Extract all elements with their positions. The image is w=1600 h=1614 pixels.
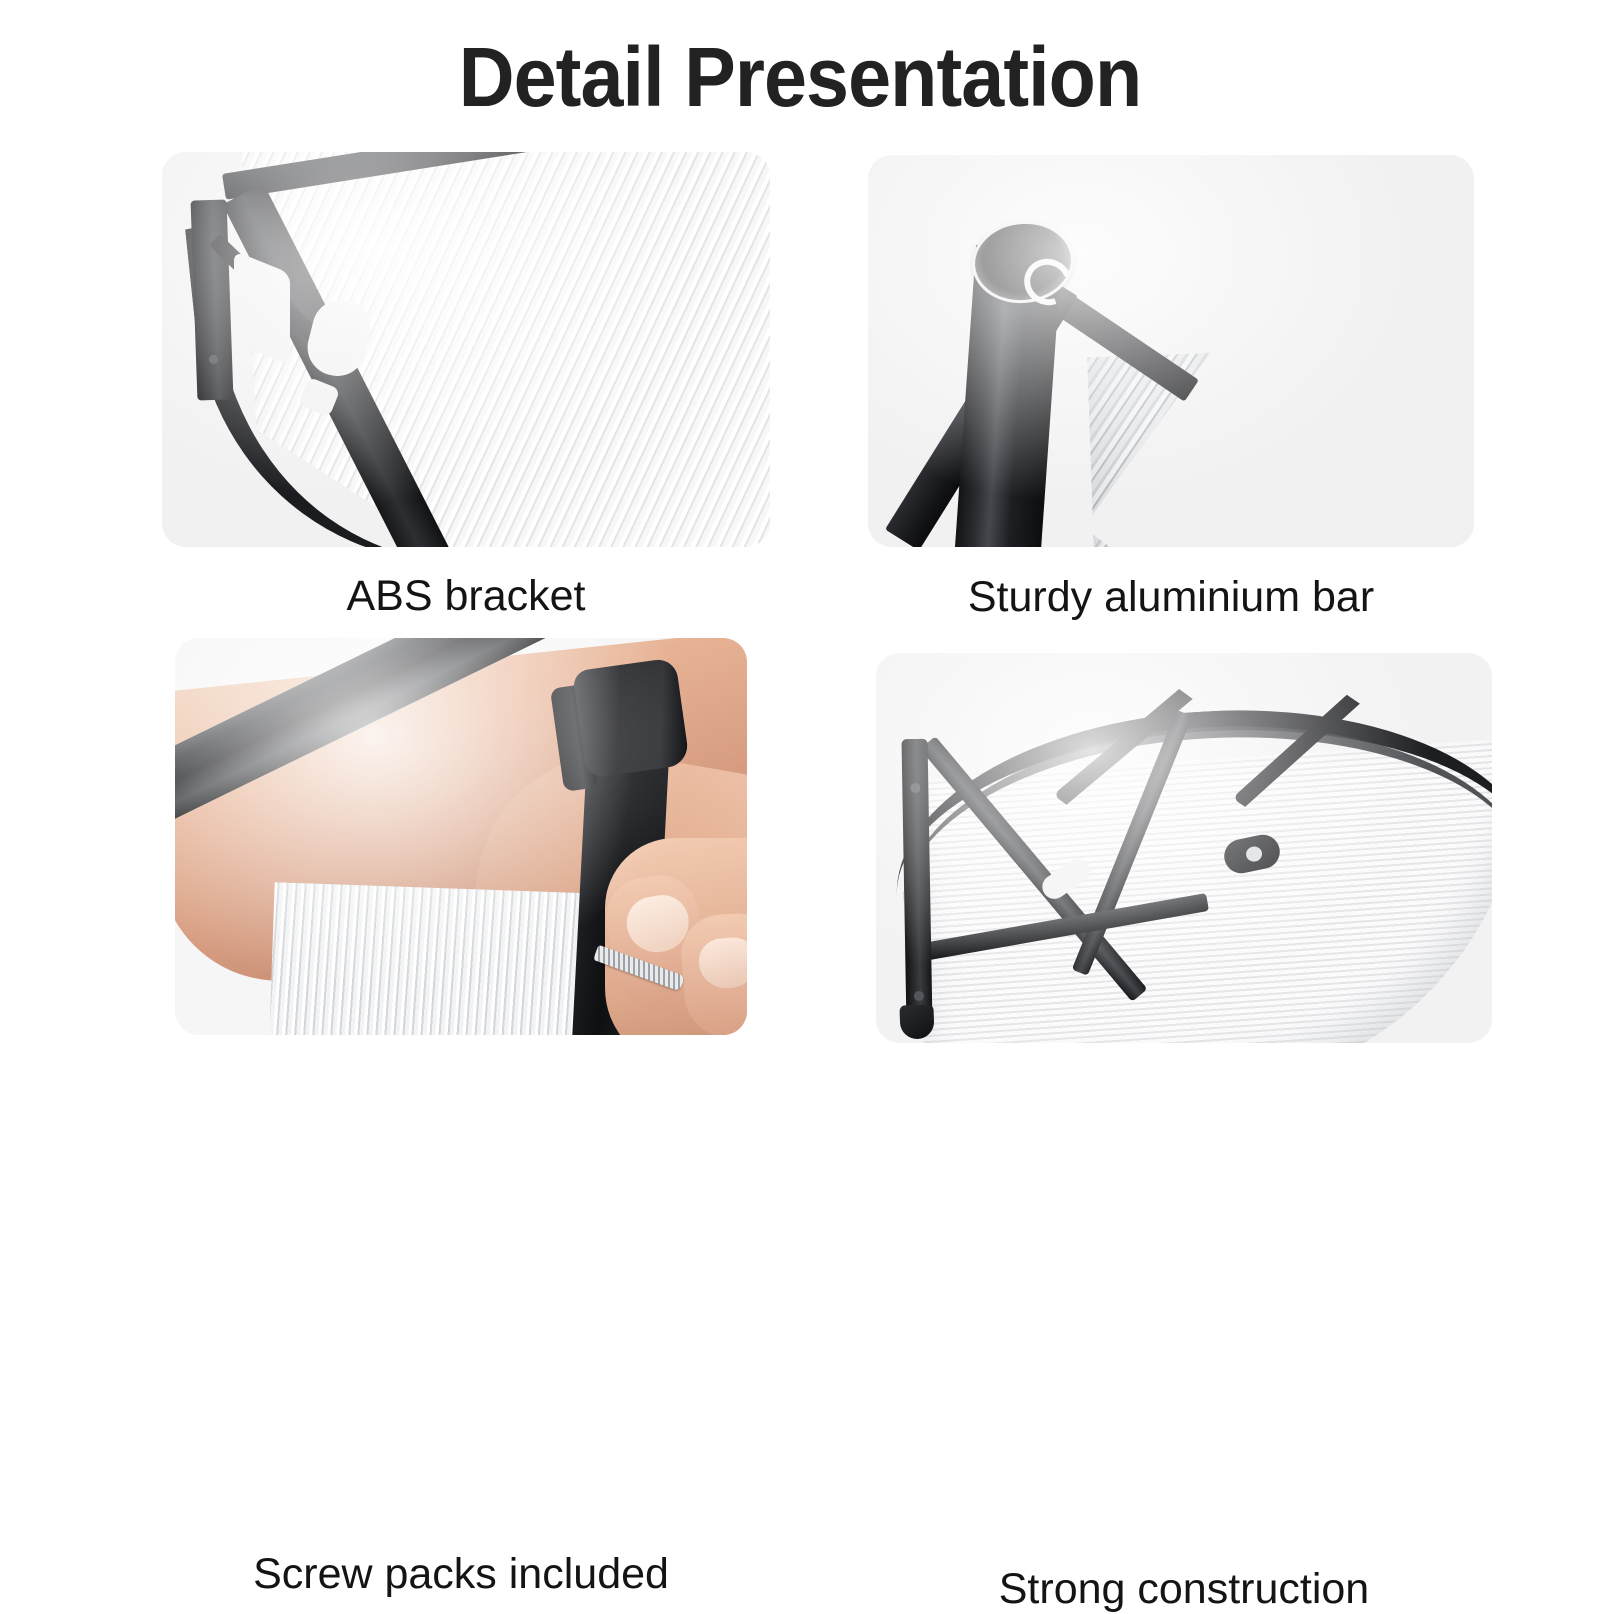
polycarbonate-panel xyxy=(267,882,604,1035)
feature-image-aluminium-bar xyxy=(868,155,1474,547)
feature-caption-strong-construction: Strong construction xyxy=(876,1565,1492,1614)
bracket-truss xyxy=(206,204,436,434)
feature-card-strong-construction: Strong construction xyxy=(876,653,1492,1043)
truss-cutout xyxy=(234,251,290,366)
bar-end-cap xyxy=(572,657,690,778)
feature-caption-screw-packs: Screw packs included xyxy=(175,1550,747,1599)
feature-card-abs-bracket: ABS bracket xyxy=(162,152,770,547)
page-title: Detail Presentation xyxy=(64,22,1536,132)
feature-card-screw-packs: Screw packs included xyxy=(175,638,747,1035)
feature-caption-abs-bracket: ABS bracket xyxy=(162,572,770,621)
feature-card-aluminium-bar: Sturdy aluminium bar xyxy=(868,155,1474,547)
feature-image-strong-construction xyxy=(876,653,1492,1043)
feature-caption-aluminium-bar: Sturdy aluminium bar xyxy=(868,573,1474,622)
wall-mount-post xyxy=(901,739,932,1027)
truss-cutout xyxy=(298,377,341,418)
feature-image-screw-packs xyxy=(175,638,747,1035)
feature-image-abs-bracket xyxy=(162,152,770,547)
truss-cutout xyxy=(302,294,377,382)
feature-grid: ABS bracket Sturdy aluminium bar xyxy=(0,150,1600,1200)
